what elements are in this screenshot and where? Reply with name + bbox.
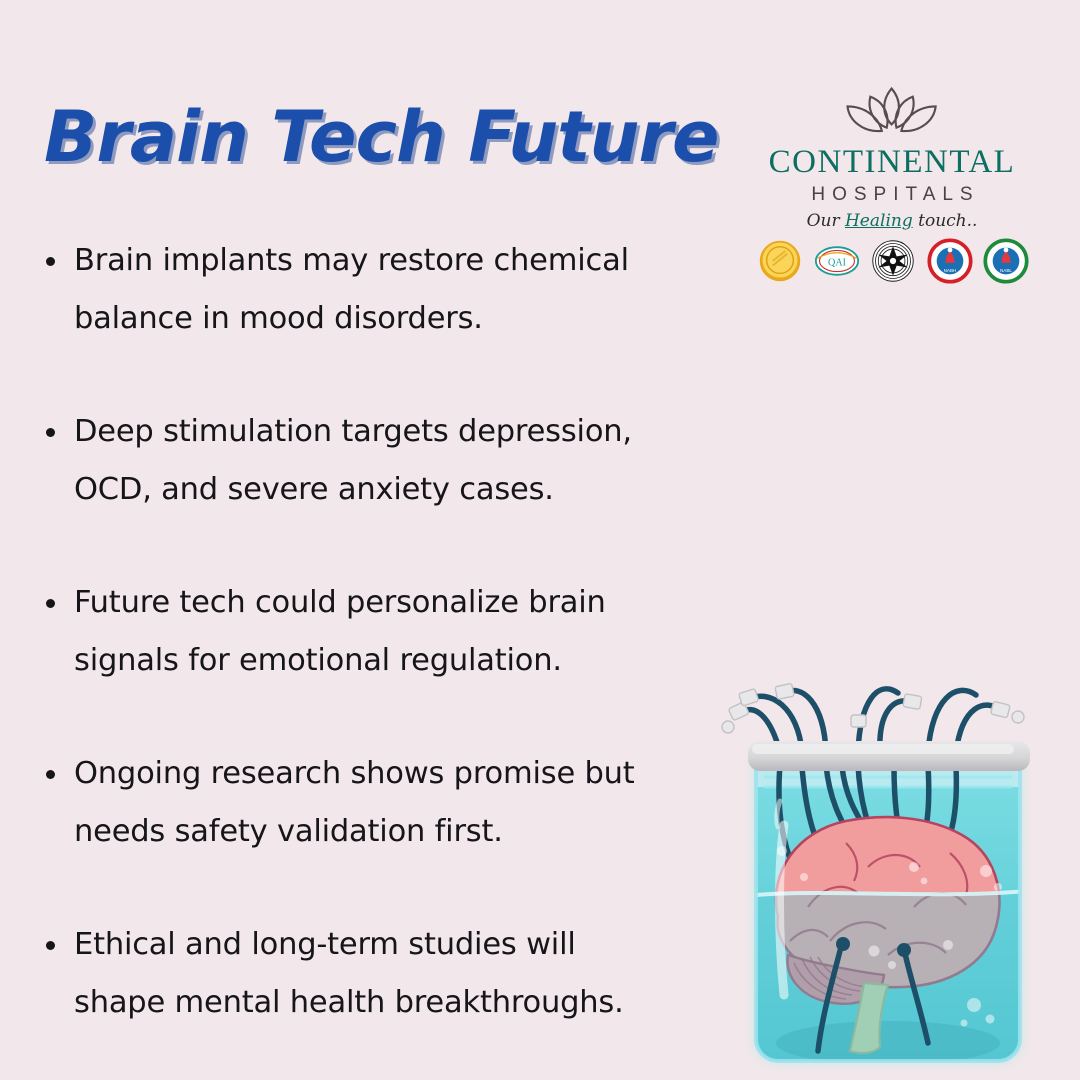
bullet-line-1: Future tech could personalize brain (74, 574, 720, 632)
qai-badge-label: QAI (828, 258, 847, 269)
logo-subtitle: HOSPITALS (748, 184, 1036, 206)
bullet-line-1: Ethical and long-term studies will (74, 916, 720, 974)
bullet-list: Brain implants may restore chemical bala… (40, 232, 720, 1032)
bullet-line-2: needs safety validation first. (74, 803, 720, 861)
brain-in-jar-with-electrodes-illustration (718, 655, 1058, 1080)
bullet-dot-icon (46, 599, 55, 608)
bullet-line-2: shape mental health breakthroughs. (74, 974, 720, 1032)
jar-lid (748, 741, 1030, 771)
bullet-dot-icon (46, 770, 55, 779)
list-item: Deep stimulation targets depression, OCD… (40, 403, 720, 519)
qai-accreditation-badge: QAI (814, 238, 860, 284)
bullet-line-1: Ongoing research shows promise but (74, 745, 720, 803)
page-title: Brain Tech Future (44, 96, 718, 178)
bullet-dot-icon (46, 941, 55, 950)
list-item: Ethical and long-term studies will shape… (40, 916, 720, 1032)
bullet-line-1: Brain implants may restore chemical (74, 232, 720, 290)
nabh-badge-label: NABH (943, 268, 956, 273)
jar-contents (756, 765, 1026, 1068)
tagline-post: touch.. (913, 211, 978, 231)
list-item: Future tech could personalize brain sign… (40, 574, 720, 690)
nabh-red-accreditation-badge: NABH (927, 238, 973, 284)
logo-tagline: Our Healing touch.. (748, 211, 1036, 231)
bullet-line-2: signals for emotional regulation. (74, 632, 720, 690)
nabl-green-accreditation-badge: NABL (983, 238, 1029, 284)
bullet-line-2: OCD, and severe anxiety cases. (74, 461, 720, 519)
list-item: Brain implants may restore chemical bala… (40, 232, 720, 348)
bullet-dot-icon (46, 428, 55, 437)
bullet-line-1: Deep stimulation targets depression, (74, 403, 720, 461)
poster-canvas: Brain Tech Future CONTINENTAL HOSPITALS … (0, 0, 1080, 1080)
lotus-petals-icon (810, 82, 973, 144)
nabl-badge-label: NABL (1000, 268, 1012, 273)
list-item: Ongoing research shows promise but needs… (40, 745, 720, 861)
bullet-line-2: balance in mood disorders. (74, 290, 720, 348)
logo-name: CONTINENTAL (748, 146, 1036, 179)
starburst-accreditation-badge (870, 238, 916, 284)
continental-hospitals-logo: CONTINENTAL HOSPITALS Our Healing touch.… (748, 82, 1036, 231)
tagline-pre: Our (807, 211, 845, 231)
bullet-dot-icon (46, 257, 55, 266)
tagline-highlight: Healing (845, 211, 913, 231)
gold-seal-badge (757, 238, 803, 284)
accreditation-badges: QAI NABH NABL (757, 238, 1029, 284)
